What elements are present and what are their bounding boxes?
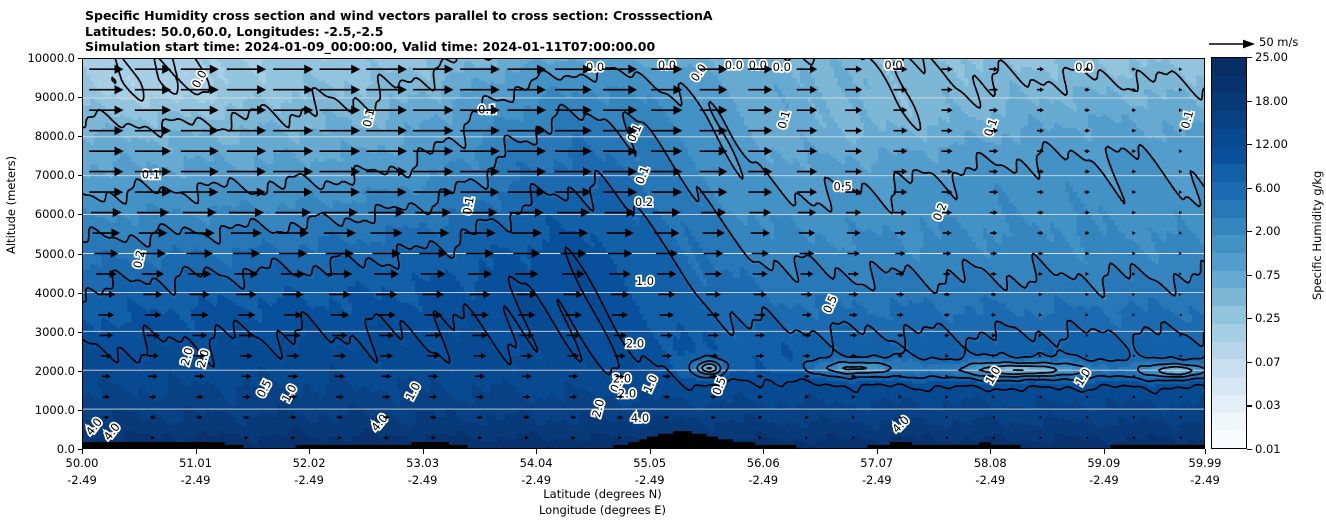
wind-vector-dot [1039, 437, 1041, 439]
title-line-3: Simulation start time: 2024-01-09_00:00:… [85, 39, 1185, 55]
colorbar-band [1212, 306, 1246, 324]
x-axis-tick-label-latitude: 55.05 [633, 456, 666, 470]
y-axis-tick-label: 4000.0 [35, 286, 75, 300]
x-axis-tick-label-longitude: -2.49 [862, 473, 892, 487]
x-axis-label-longitude: Longitude (degrees E) [0, 503, 1205, 517]
contour-label: 0.0 [773, 60, 791, 74]
contour-label: 0.0 [725, 59, 743, 72]
y-axis-tick-mark [78, 58, 83, 59]
wind-vector-dot [1086, 437, 1088, 439]
x-axis-tick-label-longitude: -2.49 [748, 473, 778, 487]
colorbar-tick-label: 0.75 [1255, 268, 1281, 282]
x-axis-tick-label-latitude: 59.09 [1087, 456, 1120, 470]
colorbar-tick-mark [1247, 231, 1252, 232]
contour-label: 0.0 [1075, 60, 1093, 74]
colorbar-band [1212, 342, 1246, 360]
x-axis-tick-mark [1205, 449, 1206, 454]
wind-arrow-icon [1209, 38, 1255, 50]
x-axis-tick-label-latitude: 50.00 [66, 456, 99, 470]
wind-vector-dot [1133, 355, 1135, 357]
contour-label: 1.0 [636, 274, 654, 288]
plot-title: Specific Humidity cross section and wind… [85, 8, 1185, 55]
colorbar-label: Specific Humidity g/kg [1310, 171, 1324, 300]
wind-vector-dot [1133, 396, 1135, 398]
y-axis-tick-label: 6000.0 [35, 207, 75, 221]
wind-vector-dot [1180, 334, 1182, 336]
contour-label: 2.0 [626, 337, 644, 351]
y-axis-tick-mark [78, 254, 83, 255]
colorbar-tick-mark [1247, 275, 1252, 276]
wind-vector-dot [1133, 375, 1135, 377]
x-axis-tick-mark [877, 449, 878, 454]
colorbar-tick-label: 18.00 [1255, 94, 1288, 108]
x-axis-tick-label-longitude: -2.49 [294, 473, 324, 487]
colorbar-tick-label: 0.25 [1255, 311, 1281, 325]
x-axis-tick-mark [196, 449, 197, 454]
y-axis-tick-label: 8000.0 [35, 129, 75, 143]
wind-vector-dot [1180, 396, 1182, 398]
y-axis-tick-label: 10000.0 [27, 51, 75, 65]
contour-label: 0.0 [586, 60, 604, 74]
wind-vector-dot [993, 437, 995, 439]
wind-vector-dot [1086, 416, 1088, 418]
x-axis-tick-label-latitude: 53.03 [406, 456, 439, 470]
colorbar-band [1212, 182, 1246, 200]
colorbar-tick-mark [1247, 57, 1252, 58]
humidity-cross-section-canvas: 0.00.00.00.00.00.00.00.00.00.00.00.00.00… [83, 59, 1204, 448]
y-axis-tick-label: 1000.0 [35, 403, 75, 417]
colorbar-tick-mark [1247, 101, 1252, 102]
wind-key-label: 50 m/s [1259, 35, 1298, 49]
y-axis-label: Altitude (meters) [4, 156, 18, 254]
colorbar-band [1212, 288, 1246, 306]
colorbar [1211, 57, 1247, 449]
wind-vector-dot [1133, 437, 1135, 439]
wind-vector-dot [1180, 355, 1182, 357]
y-axis-tick-label: 9000.0 [35, 90, 75, 104]
y-axis-tick-label: 7000.0 [35, 168, 75, 182]
colorbar-band [1212, 253, 1246, 271]
x-axis-tick-label-longitude: -2.49 [1089, 473, 1119, 487]
x-axis-tick-label-longitude: -2.49 [67, 473, 97, 487]
x-axis-tick-label-longitude: -2.49 [1190, 473, 1220, 487]
wind-vector-dot [1086, 396, 1088, 398]
wind-vector-dot [1086, 375, 1088, 377]
x-axis-tick-mark [990, 449, 991, 454]
x-axis-tick-mark [423, 449, 424, 454]
colorbar-tick-label: 0.03 [1255, 398, 1281, 412]
colorbar-band [1212, 377, 1246, 395]
colorbar-band [1212, 413, 1246, 431]
colorbar-tick-mark [1247, 362, 1252, 363]
colorbar-band [1212, 324, 1246, 342]
x-axis-tick-mark [309, 449, 310, 454]
y-axis-tick-mark [78, 175, 83, 176]
x-axis-tick-mark [1104, 449, 1105, 454]
colorbar-band [1212, 58, 1246, 76]
x-axis-tick-mark [82, 449, 83, 454]
y-axis-tick-label: 3000.0 [35, 325, 75, 339]
colorbar-tick-label: 6.00 [1255, 181, 1281, 195]
cross-section-plot: 0.00.00.00.00.00.00.00.00.00.00.00.00.00… [82, 58, 1205, 449]
y-axis-tick-mark [78, 410, 83, 411]
x-axis-tick-label-latitude: 51.01 [179, 456, 212, 470]
x-axis-tick-label-latitude: 57.07 [860, 456, 893, 470]
colorbar-band [1212, 430, 1246, 448]
colorbar-tick-label: 12.00 [1255, 137, 1288, 151]
y-axis-tick-mark [78, 214, 83, 215]
contour-label: 0.2 [635, 195, 653, 209]
colorbar-tick-label: 2.00 [1255, 224, 1281, 238]
wind-vector-dot [993, 416, 995, 418]
colorbar-band [1212, 359, 1246, 377]
contour-label: 0.1 [142, 167, 160, 181]
x-axis-label-latitude: Latitude (degrees N) [0, 487, 1205, 501]
colorbar-band [1212, 93, 1246, 111]
contour-label: 2.0 [613, 371, 631, 385]
x-axis-tick-label-latitude: 59.99 [1189, 456, 1222, 470]
x-axis-tick-label-latitude: 52.02 [293, 456, 326, 470]
y-axis-tick-mark [78, 371, 83, 372]
x-axis-tick-mark [536, 449, 537, 454]
y-axis-tick-mark [78, 136, 83, 137]
colorbar-band [1212, 129, 1246, 147]
wind-vector-dot [1180, 416, 1182, 418]
colorbar-band [1212, 147, 1246, 165]
colorbar-band [1212, 271, 1246, 289]
wind-vector-dot [1039, 396, 1041, 398]
wind-vector-dot [1133, 416, 1135, 418]
contour-label: 4.0 [631, 411, 649, 425]
x-axis-tick-label-longitude: -2.49 [635, 473, 665, 487]
x-axis-tick-label-longitude: -2.49 [975, 473, 1005, 487]
x-axis-tick-label-longitude: -2.49 [181, 473, 211, 487]
colorbar-band [1212, 200, 1246, 218]
colorbar-tick-mark [1247, 188, 1252, 189]
colorbar-band [1212, 218, 1246, 236]
colorbar-band [1212, 111, 1246, 129]
colorbar-tick-label: 0.01 [1255, 442, 1281, 456]
wind-vector-dot [1180, 314, 1182, 316]
colorbar-band [1212, 76, 1246, 94]
y-axis-tick-label: 0.0 [57, 442, 75, 456]
x-axis-tick-label-longitude: -2.49 [521, 473, 551, 487]
title-line-1: Specific Humidity cross section and wind… [85, 8, 1185, 24]
colorbar-tick-mark [1247, 144, 1252, 145]
colorbar-band [1212, 164, 1246, 182]
colorbar-tick-mark [1247, 405, 1252, 406]
x-axis-tick-mark [763, 449, 764, 454]
colorbar-tick-label: 25.00 [1255, 50, 1288, 64]
wind-vector-dot [1039, 416, 1041, 418]
y-axis-tick-mark [78, 293, 83, 294]
x-axis-tick-label-longitude: -2.49 [408, 473, 438, 487]
colorbar-band [1212, 395, 1246, 413]
x-axis-tick-label-latitude: 56.06 [747, 456, 780, 470]
colorbar-tick-mark [1247, 449, 1252, 450]
wind-vector-dot [1180, 375, 1182, 377]
colorbar-tick-mark [1247, 318, 1252, 319]
y-axis-tick-mark [78, 332, 83, 333]
y-axis-tick-mark [78, 97, 83, 98]
wind-vector-dot [1180, 437, 1182, 439]
x-axis-tick-label-latitude: 54.04 [520, 456, 553, 470]
x-axis-tick-label-latitude: 58.08 [974, 456, 1007, 470]
colorbar-tick-label: 0.07 [1255, 355, 1281, 369]
colorbar-gradient [1212, 58, 1246, 448]
colorbar-band [1212, 235, 1246, 253]
y-axis-tick-label: 5000.0 [35, 247, 75, 261]
wind-vector-dot [946, 437, 948, 439]
title-line-2: Latitudes: 50.0,60.0, Longitudes: -2.5,-… [85, 24, 1185, 40]
y-axis-tick-label: 2000.0 [35, 364, 75, 378]
x-axis-tick-mark [650, 449, 651, 454]
